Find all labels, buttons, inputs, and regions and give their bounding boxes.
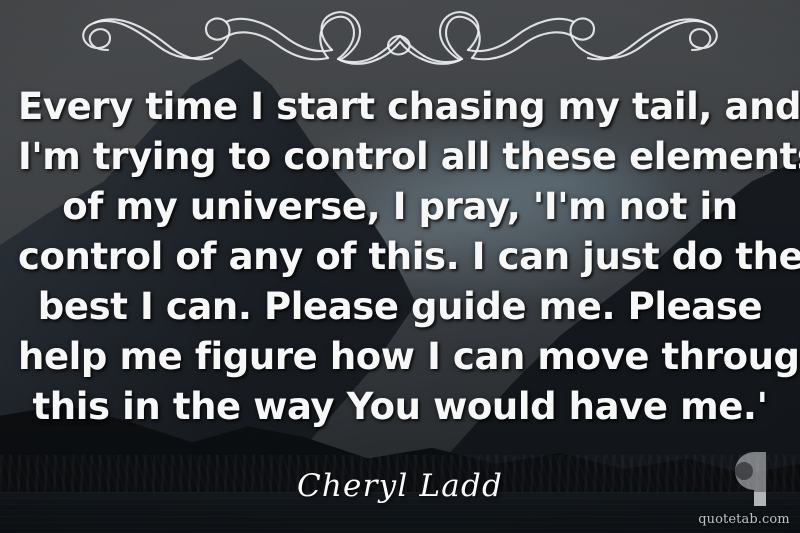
quote-line: this in the way You would have me.' [18,382,782,432]
flourish-ornament-icon [70,6,730,68]
quote-line: control of any of this. I can just do th… [18,232,782,282]
quote-image-card: Every time I start chasing my tail, and … [0,0,800,533]
quote-line: of my universe, I pray, 'I'm not in [18,182,782,232]
quote-line: I'm trying to control all these elements [18,132,782,182]
q-logo-icon [713,448,775,510]
site-watermark: quotetab.com [696,448,792,527]
quote-author: Cheryl Ladd [0,468,800,504]
site-url-label: quotetab.com [696,512,792,527]
quote-text: Every time I start chasing my tail, and … [0,82,800,432]
quote-line: Every time I start chasing my tail, and [18,82,782,132]
quote-line: help me figure how I can move through [18,332,782,382]
quote-line: best I can. Please guide me. Please [18,282,782,332]
